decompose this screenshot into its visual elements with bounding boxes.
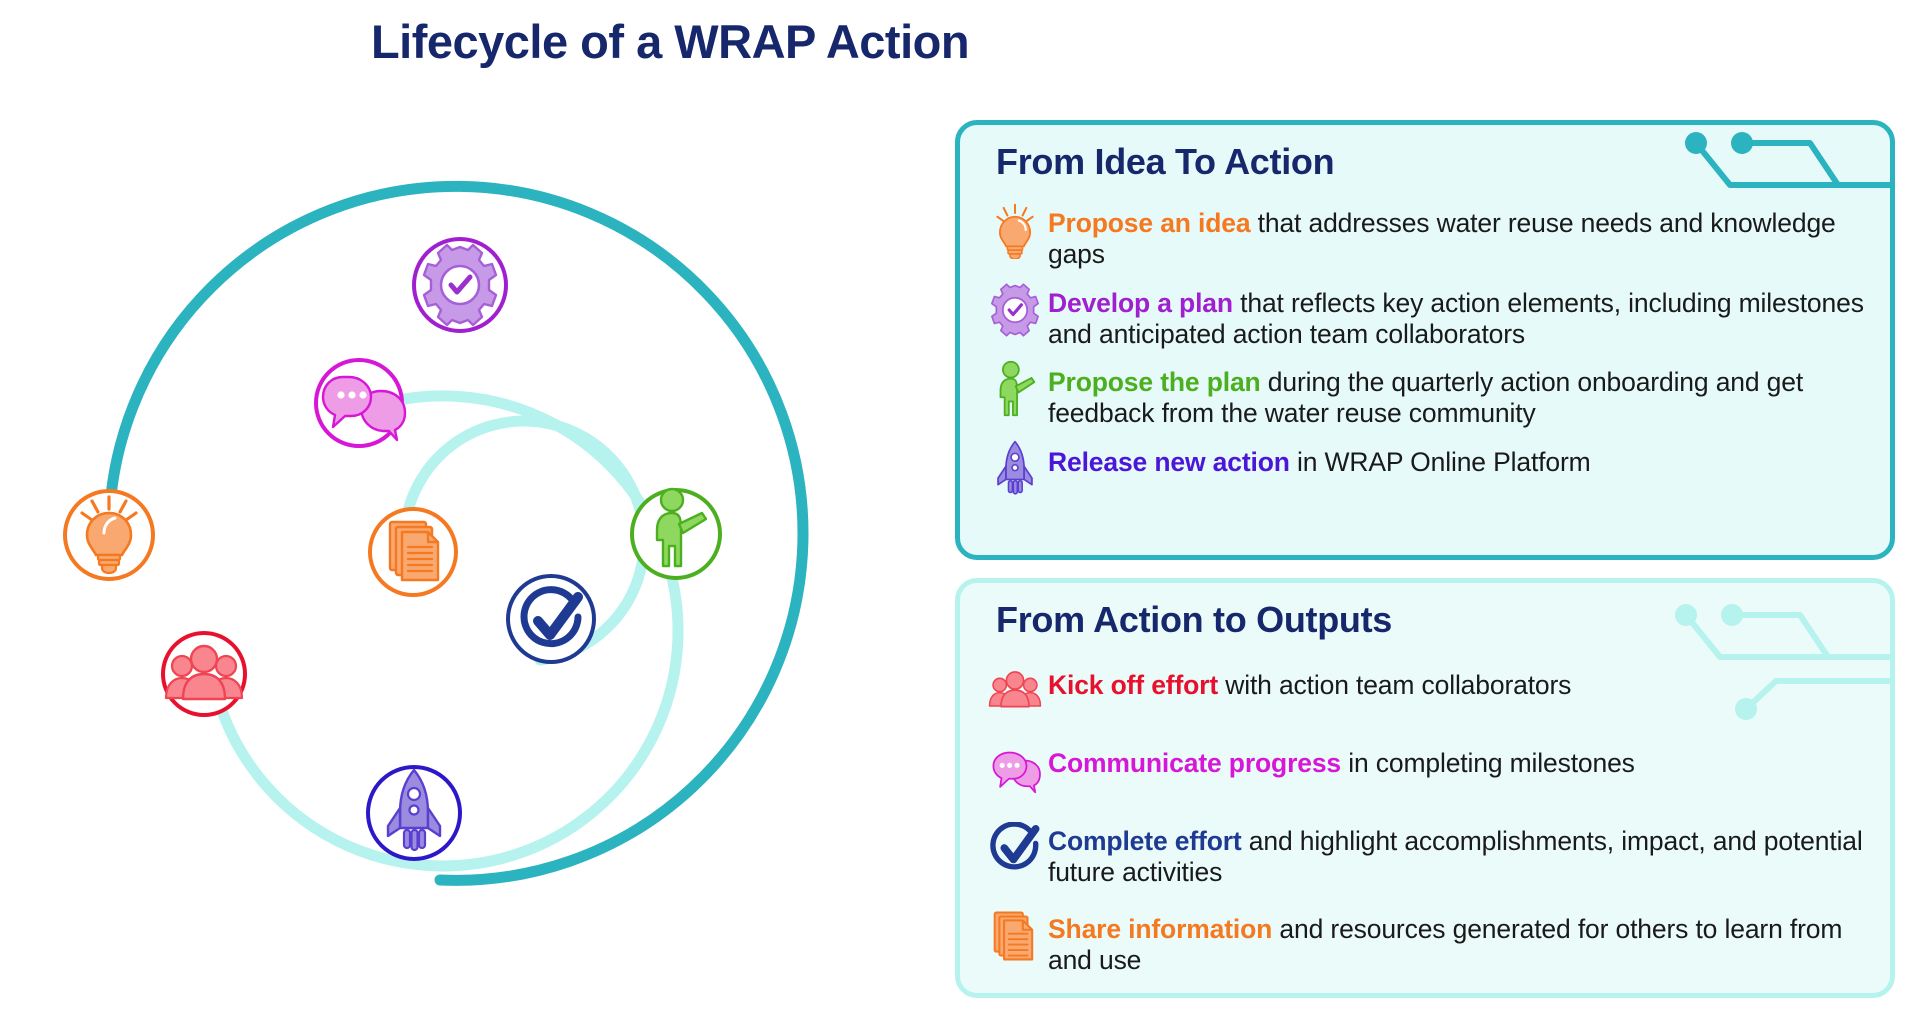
list-item[interactable]: Propose an idea that addresses water reu…	[982, 199, 1866, 271]
list-item-lead: Develop a plan	[1048, 288, 1233, 318]
list-item[interactable]: Kick off effort with action team collabo…	[982, 661, 1866, 723]
spiral-node-idea[interactable]	[65, 491, 153, 579]
list-item-text: Develop a plan that reflects key action …	[1048, 279, 1866, 351]
list-item[interactable]: Complete effort and highlight accomplish…	[982, 817, 1866, 889]
spiral-node-share[interactable]	[370, 509, 456, 595]
list-item-text: Communicate progress in completing miles…	[1048, 739, 1866, 779]
spiral-node-propose[interactable]	[632, 489, 720, 578]
panel-item-list: Propose an idea that addresses water reu…	[982, 199, 1866, 508]
list-item-lead: Communicate progress	[1048, 748, 1341, 778]
gear-check-icon	[982, 279, 1048, 341]
page-title: Lifecycle of a WRAP Action	[0, 14, 1340, 69]
panel-from-idea-to-action: From Idea To Action	[955, 120, 1895, 560]
list-item-text: Release new action in WRAP Online Platfo…	[1048, 438, 1866, 478]
check-circle-icon	[982, 817, 1048, 879]
panel-from-action-to-outputs: From Action to Outputs Kick off effort w…	[955, 578, 1895, 998]
list-item-lead: Release new action	[1048, 447, 1290, 477]
list-item-text: Propose an idea that addresses water reu…	[1048, 199, 1866, 271]
spiral-node-plan[interactable]	[414, 239, 506, 331]
list-item-rest: with action team collaborators	[1218, 670, 1571, 700]
list-item-text: Kick off effort with action team collabo…	[1048, 661, 1866, 701]
list-item-rest: in WRAP Online Platform	[1290, 447, 1591, 477]
list-item[interactable]: Develop a plan that reflects key action …	[982, 279, 1866, 351]
list-item[interactable]: Share information and resources generate…	[982, 905, 1866, 977]
list-item[interactable]: Release new action in WRAP Online Platfo…	[982, 438, 1866, 500]
panel-title: From Action to Outputs	[996, 599, 1392, 641]
list-item-rest: in completing milestones	[1341, 748, 1635, 778]
lightbulb-icon	[982, 199, 1048, 261]
list-item[interactable]: Propose the plan during the quarterly ac…	[982, 358, 1866, 430]
rocket-icon	[982, 438, 1048, 500]
spiral-node-communicate[interactable]	[316, 360, 405, 446]
panel-title: From Idea To Action	[996, 141, 1334, 183]
list-item-lead: Share information	[1048, 914, 1272, 944]
list-item-text: Share information and resources generate…	[1048, 905, 1866, 977]
list-item-lead: Kick off effort	[1048, 670, 1218, 700]
spiral-node-release[interactable]	[368, 767, 460, 859]
list-item-lead: Complete effort	[1048, 826, 1242, 856]
list-item-lead: Propose the plan	[1048, 367, 1261, 397]
documents-icon	[390, 522, 438, 580]
list-item-lead: Propose an idea	[1048, 208, 1250, 238]
people-group-icon	[982, 661, 1048, 723]
spiral-node-complete[interactable]	[508, 576, 594, 662]
lifecycle-spiral-diagram	[20, 100, 920, 1000]
presenter-icon	[982, 358, 1048, 420]
spiral-node-kickoff[interactable]	[163, 633, 245, 715]
chat-bubbles-icon	[982, 739, 1048, 801]
panel-item-list: Kick off effort with action team collabo…	[982, 661, 1866, 992]
list-item-text: Propose the plan during the quarterly ac…	[1048, 358, 1866, 430]
infographic-canvas: Lifecycle of a WRAP Action	[0, 0, 1920, 1022]
documents-icon	[982, 905, 1048, 967]
list-item-text: Complete effort and highlight accomplish…	[1048, 817, 1866, 889]
list-item[interactable]: Communicate progress in completing miles…	[982, 739, 1866, 801]
